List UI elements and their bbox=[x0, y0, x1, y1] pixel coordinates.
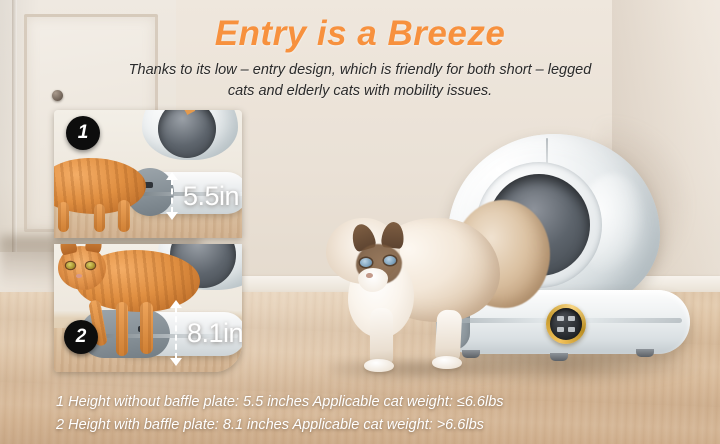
subtitle-line-2: cats and elderly cats with mobility issu… bbox=[72, 81, 648, 102]
subtitle-line-1: Thanks to its low – entry design, which … bbox=[72, 60, 648, 81]
inset-photo-group: 5.5in 1 bbox=[54, 110, 242, 372]
measurement-arrow-icon bbox=[170, 300, 182, 366]
cat-head bbox=[326, 218, 400, 284]
caption-line-2: 2 Height with baffle plate: 8.1 inches A… bbox=[56, 414, 676, 437]
caption-line-1: 1 Height without baffle plate: 5.5 inche… bbox=[56, 391, 676, 414]
light-icon[interactable] bbox=[568, 327, 575, 332]
cat-hind-leg bbox=[435, 309, 463, 362]
measurement-annotation-2: 8.1in bbox=[170, 300, 242, 366]
inset-cat-leg bbox=[58, 202, 69, 232]
step-badge-2: 2 bbox=[64, 320, 98, 354]
inset-cat-eye bbox=[86, 262, 95, 269]
step-badge-1: 1 bbox=[66, 116, 100, 150]
inset-cat-leg bbox=[94, 204, 105, 232]
cabinet-knob-icon bbox=[52, 90, 63, 101]
inset-cat-leg bbox=[118, 200, 130, 232]
inset-cat-eye bbox=[66, 262, 75, 269]
arrow-head-down-icon bbox=[170, 358, 182, 366]
measurement-label: 8.1in bbox=[187, 318, 242, 349]
arrow-dashed-line bbox=[171, 179, 173, 213]
litter-box-foot bbox=[636, 349, 654, 357]
page-title: Entry is a Breeze bbox=[0, 14, 720, 54]
measurement-arrow-icon bbox=[166, 172, 178, 220]
control-panel-ring[interactable] bbox=[546, 304, 586, 344]
inset-photo-1: 5.5in 1 bbox=[54, 110, 242, 238]
page-subtitle: Thanks to its low – entry design, which … bbox=[72, 60, 648, 102]
cat-front-leg bbox=[370, 308, 393, 366]
arrow-dashed-line bbox=[175, 307, 177, 359]
cat-paw bbox=[432, 356, 462, 369]
product-feature-banner: Entry is a Breeze Thanks to its low – en… bbox=[0, 0, 720, 444]
control-panel-display[interactable] bbox=[550, 308, 582, 340]
clean-icon[interactable] bbox=[568, 316, 575, 321]
arrow-head-down-icon bbox=[166, 212, 178, 220]
mode-icon[interactable] bbox=[557, 327, 564, 332]
measurement-annotation-1: 5.5in bbox=[166, 172, 239, 220]
cat-paw bbox=[364, 359, 394, 372]
inset-cat-leg bbox=[116, 302, 128, 356]
litter-box-foot bbox=[550, 353, 568, 361]
ragdoll-cat bbox=[310, 196, 540, 376]
power-icon[interactable] bbox=[557, 316, 564, 321]
cat-eye bbox=[384, 256, 396, 265]
inset-photo-2: 8.1in 2 bbox=[54, 244, 242, 372]
control-panel-buttons[interactable] bbox=[550, 308, 582, 340]
inset-cat-leg bbox=[140, 302, 153, 354]
cat-eye bbox=[360, 258, 372, 267]
measurement-label: 5.5in bbox=[183, 181, 239, 212]
footer-captions: 1 Height without baffle plate: 5.5 inche… bbox=[56, 391, 676, 437]
